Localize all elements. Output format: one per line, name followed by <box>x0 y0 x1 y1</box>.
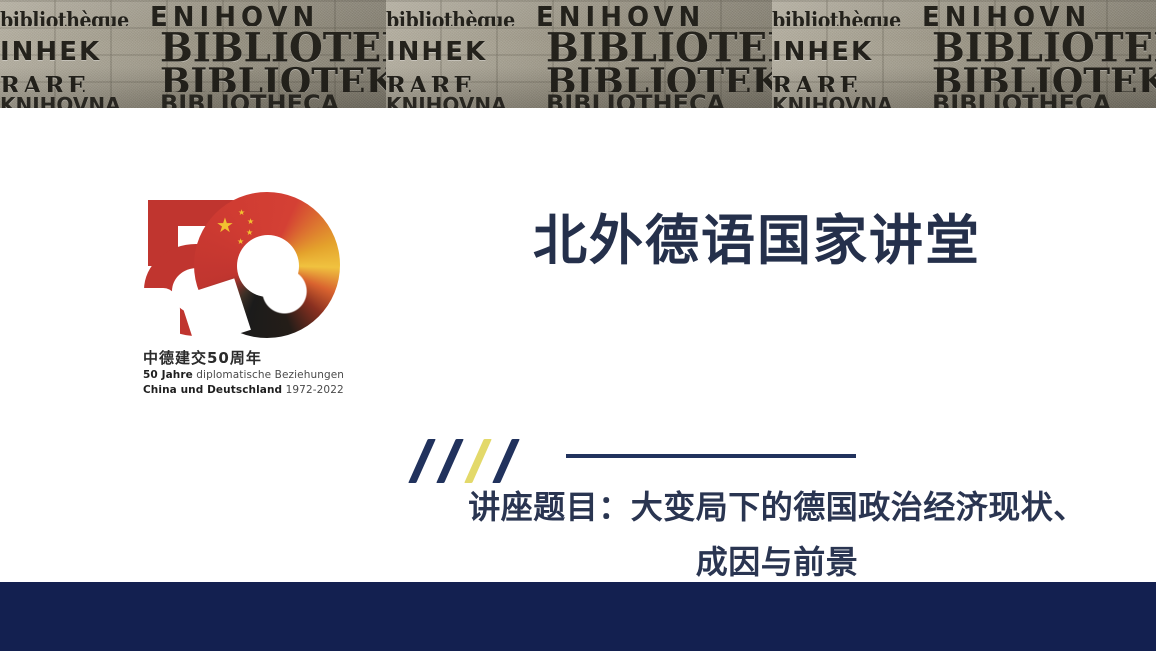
logo-caption-german-1-bold: 50 Jahre <box>143 369 193 381</box>
slash-icon <box>436 439 464 483</box>
footer-bar <box>0 582 1156 651</box>
banner-tile: bibliothèqueENIHOVN INHEKBIBLIOTEK RAREB… <box>0 0 386 108</box>
banner-tile: bibliothèqueENIHOVN INHEKBIBLIOTEK RAREB… <box>386 0 772 108</box>
logo-50-mark: ★ ★ ★ ★ ★ <box>142 192 342 340</box>
photo-grain <box>0 0 386 108</box>
logo-digit-zero-counter <box>237 235 299 297</box>
diagonal-slashes-decoration <box>412 439 524 483</box>
poster-slide: bibliothèqueENIHOVN INHEKBIBLIOTEK RAREB… <box>0 0 1156 651</box>
photo-grain <box>772 0 1156 108</box>
logo-caption-german-2-rest: 1972-2022 <box>282 384 344 396</box>
logo-caption-german-1-rest: diplomatische Beziehungen <box>193 369 344 381</box>
logo-caption-chinese: 中德建交50周年 <box>143 348 347 368</box>
slide-body: ★ ★ ★ ★ ★ 中德建交50周年 50 Jahre diplomatisch… <box>0 108 1156 582</box>
photo-grain <box>386 0 772 108</box>
lecture-topic: 讲座题目：大变局下的德国政治经济现状、 成因与前景 <box>432 480 1122 590</box>
slash-icon-accent <box>464 439 492 483</box>
page-title: 北外德语国家讲堂 <box>533 196 981 275</box>
anniversary-logo: ★ ★ ★ ★ ★ 中德建交50周年 50 Jahre diplomatisch… <box>137 192 347 399</box>
divider-top <box>566 454 856 458</box>
logo-digit-five-notch <box>138 288 180 342</box>
banner-tile: bibliothèqueENIHOVN INHEKBIBLIOTEK RAREB… <box>772 0 1156 108</box>
logo-caption-german-2: China und Deutschland 1972-2022 <box>143 383 347 398</box>
slash-icon <box>408 439 436 483</box>
header-banner-image: bibliothèqueENIHOVN INHEKBIBLIOTEK RAREB… <box>0 0 1156 108</box>
logo-caption-german-2-bold: China und Deutschland <box>143 384 282 396</box>
slash-icon <box>492 439 520 483</box>
logo-caption-german-1: 50 Jahre diplomatische Beziehungen <box>143 368 347 383</box>
logo-caption: 中德建交50周年 50 Jahre diplomatische Beziehun… <box>137 348 347 399</box>
lecture-topic-line-1: 讲座题目：大变局下的德国政治经济现状、 <box>468 488 1086 526</box>
